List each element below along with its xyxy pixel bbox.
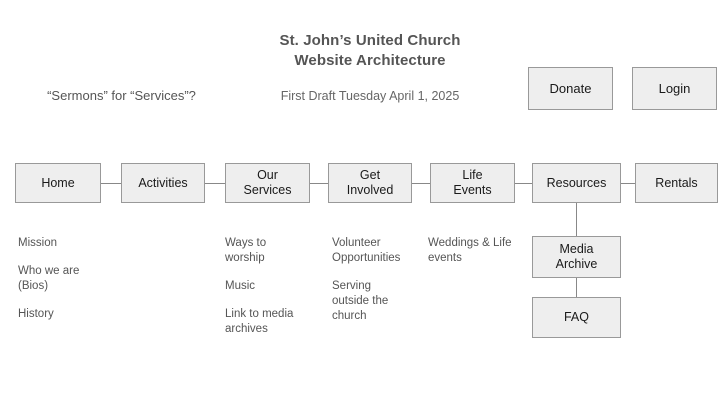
- annotation-note: “Sermons” for “Services”?: [14, 88, 229, 103]
- connector-services-involved: [310, 183, 328, 184]
- list-item: Who we are(Bios): [18, 264, 113, 294]
- page-subtitle: First Draft Tuesday April 1, 2025: [215, 89, 525, 103]
- connector-resources-media-archive: [576, 203, 577, 236]
- column-life-events-subitems: Weddings & Lifeevents: [428, 236, 528, 266]
- list-item: Mission: [18, 236, 113, 251]
- page-title-line-1: St. John’s United Church: [215, 31, 525, 51]
- list-item: Link to mediaarchives: [225, 307, 320, 337]
- nav-box-home[interactable]: Home: [15, 163, 101, 203]
- column-our-services-subitems: Ways toworship Music Link to mediaarchiv…: [225, 236, 320, 337]
- column-home-subitems: Mission Who we are(Bios) History: [18, 236, 113, 322]
- list-item: Music: [225, 279, 320, 294]
- connector-home-activities: [101, 183, 121, 184]
- nav-box-resources[interactable]: Resources: [532, 163, 621, 203]
- connector-involved-events: [412, 183, 430, 184]
- connector-events-resources: [515, 183, 532, 184]
- nav-box-activities[interactable]: Activities: [121, 163, 205, 203]
- list-item: History: [18, 307, 113, 322]
- list-item: Servingoutside thechurch: [332, 279, 420, 324]
- diagram-canvas: St. John’s United Church Website Archite…: [0, 0, 720, 405]
- connector-resources-rentals: [621, 183, 635, 184]
- login-button[interactable]: Login: [632, 67, 717, 110]
- page-title-line-2: Website Architecture: [215, 51, 525, 71]
- list-item: Ways toworship: [225, 236, 320, 266]
- nav-box-faq[interactable]: FAQ: [532, 297, 621, 338]
- nav-box-get-involved[interactable]: GetInvolved: [328, 163, 412, 203]
- nav-box-media-archive[interactable]: MediaArchive: [532, 236, 621, 278]
- list-item: VolunteerOpportunities: [332, 236, 420, 266]
- connector-media-archive-faq: [576, 278, 577, 297]
- connector-activities-services: [205, 183, 225, 184]
- column-get-involved-subitems: VolunteerOpportunities Servingoutside th…: [332, 236, 420, 324]
- nav-box-our-services[interactable]: OurServices: [225, 163, 310, 203]
- page-title: St. John’s United Church Website Archite…: [215, 31, 525, 71]
- donate-button[interactable]: Donate: [528, 67, 613, 110]
- list-item: Weddings & Lifeevents: [428, 236, 528, 266]
- nav-box-life-events[interactable]: LifeEvents: [430, 163, 515, 203]
- nav-box-rentals[interactable]: Rentals: [635, 163, 718, 203]
